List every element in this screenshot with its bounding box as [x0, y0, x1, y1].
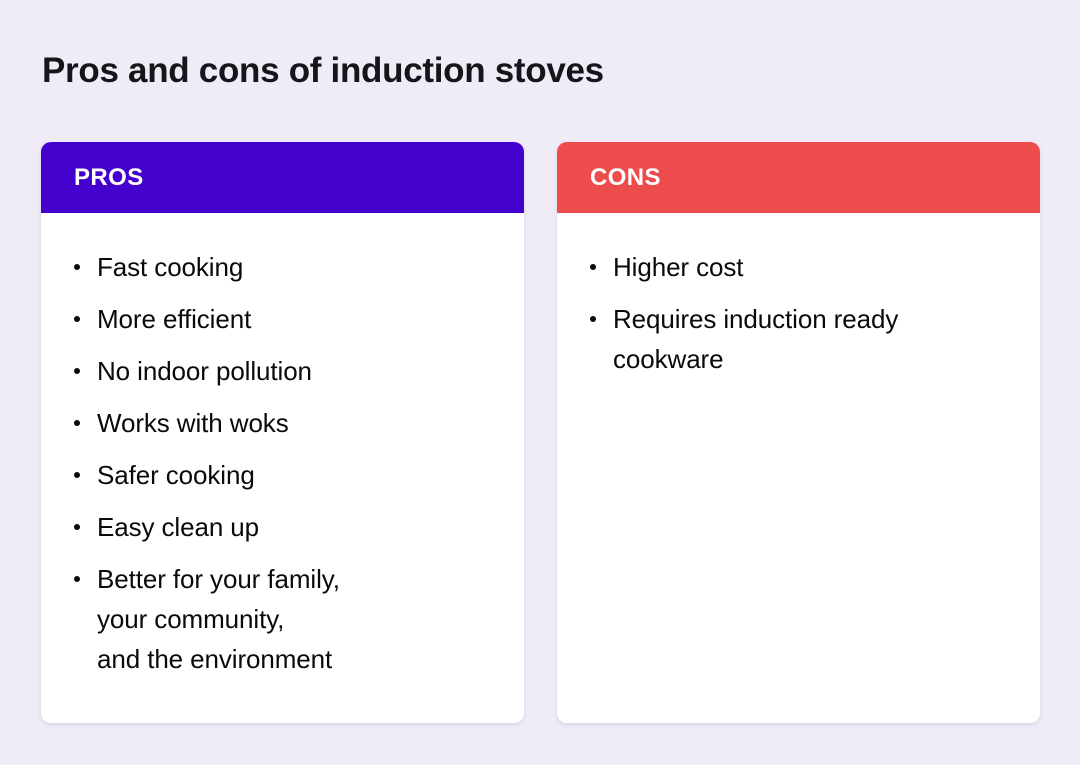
bullet-icon: [74, 576, 80, 582]
list-item-line: Requires induction ready: [613, 299, 1012, 339]
cons-card-header-label: CONS: [590, 164, 661, 192]
list-item-line: your community,: [97, 599, 496, 639]
bullet-icon: [74, 264, 80, 270]
list-item: More efficient: [69, 299, 496, 339]
pros-card-header-label: PROS: [74, 164, 144, 192]
cons-list: Higher costRequires induction readycookw…: [585, 247, 1012, 379]
bullet-icon: [590, 264, 596, 270]
list-item: Requires induction readycookware: [585, 299, 1012, 379]
bullet-icon: [590, 316, 596, 322]
bullet-icon: [74, 316, 80, 322]
bullet-icon: [74, 472, 80, 478]
list-item: Better for your family,your community,an…: [69, 559, 496, 679]
list-item: No indoor pollution: [69, 351, 496, 391]
list-item-line: Fast cooking: [97, 247, 496, 287]
list-item: Works with woks: [69, 403, 496, 443]
list-item-line: Works with woks: [97, 403, 496, 443]
comparison-cards: PROS Fast cookingMore efficientNo indoor…: [41, 142, 1040, 723]
bullet-icon: [74, 420, 80, 426]
page-title: Pros and cons of induction stoves: [42, 51, 604, 90]
list-item-line: Easy clean up: [97, 507, 496, 547]
cons-card: CONS Higher costRequires induction ready…: [557, 142, 1040, 723]
list-item-line: and the environment: [97, 639, 496, 679]
list-item: Fast cooking: [69, 247, 496, 287]
list-item: Easy clean up: [69, 507, 496, 547]
cons-card-header: CONS: [557, 142, 1040, 213]
bullet-icon: [74, 368, 80, 374]
cons-card-body: Higher costRequires induction readycookw…: [557, 213, 1040, 723]
list-item-line: Better for your family,: [97, 559, 496, 599]
pros-card-header: PROS: [41, 142, 524, 213]
infographic-page: Pros and cons of induction stoves PROS F…: [0, 0, 1080, 765]
pros-list: Fast cookingMore efficientNo indoor poll…: [69, 247, 496, 679]
list-item-line: No indoor pollution: [97, 351, 496, 391]
list-item-line: cookware: [613, 339, 1012, 379]
pros-card-body: Fast cookingMore efficientNo indoor poll…: [41, 213, 524, 723]
list-item: Safer cooking: [69, 455, 496, 495]
list-item: Higher cost: [585, 247, 1012, 287]
list-item-line: Higher cost: [613, 247, 1012, 287]
list-item-line: More efficient: [97, 299, 496, 339]
pros-card: PROS Fast cookingMore efficientNo indoor…: [41, 142, 524, 723]
bullet-icon: [74, 524, 80, 530]
list-item-line: Safer cooking: [97, 455, 496, 495]
